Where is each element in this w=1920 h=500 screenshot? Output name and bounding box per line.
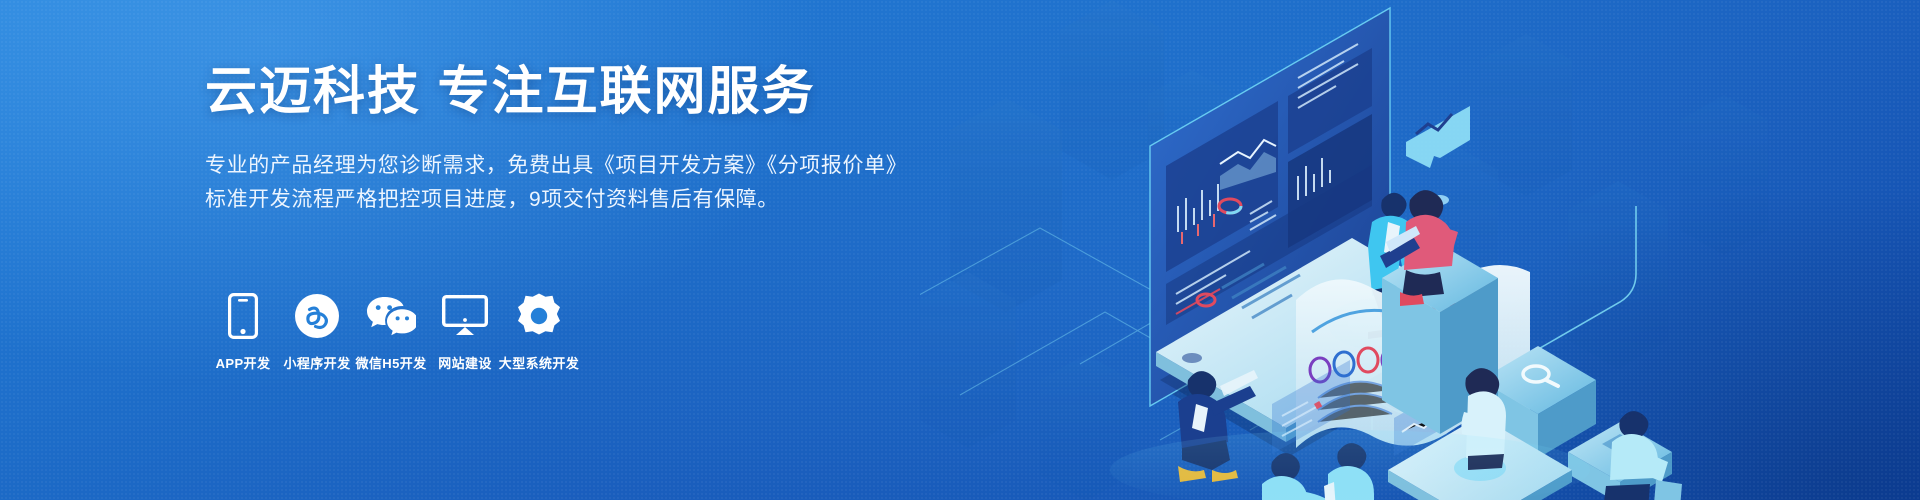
- hero-banner: 云迈科技 专注互联网服务 专业的产品经理为您诊断需求，免费出具《项目开发方案》《…: [0, 0, 1920, 500]
- isometric-illustration: [920, 0, 1920, 500]
- service-list: APP开发 小程序开发 微信: [206, 292, 576, 372]
- mobile-phone-icon: [228, 292, 258, 340]
- service-item-large-system[interactable]: 大型系统开发: [502, 292, 576, 372]
- desktop-monitor-icon: [442, 292, 488, 340]
- service-label: 网站建设: [438, 353, 492, 372]
- service-label: 大型系统开发: [499, 353, 579, 372]
- service-item-website[interactable]: 网站建设: [428, 292, 502, 372]
- subtitle-line-2: 标准开发流程严格把控项目进度，9项交付资料售后有保障。: [205, 183, 905, 217]
- service-item-wechat-h5[interactable]: 微信H5开发: [354, 292, 428, 372]
- mini-program-icon: [294, 292, 340, 340]
- page-title: 云迈科技 专注互联网服务: [205, 62, 905, 123]
- banner-copy: 云迈科技 专注互联网服务 专业的产品经理为您诊断需求，免费出具《项目开发方案》《…: [205, 62, 905, 217]
- subtitle-line-1: 专业的产品经理为您诊断需求，免费出具《项目开发方案》《分项报价单》: [205, 149, 905, 183]
- service-label: 微信H5开发: [355, 353, 426, 372]
- wechat-icon: [366, 292, 416, 340]
- service-item-app[interactable]: APP开发: [206, 292, 280, 372]
- service-label: 小程序开发: [283, 353, 350, 372]
- gear-icon: [516, 292, 562, 340]
- service-label: APP开发: [216, 353, 271, 372]
- service-item-miniprogram[interactable]: 小程序开发: [280, 292, 354, 372]
